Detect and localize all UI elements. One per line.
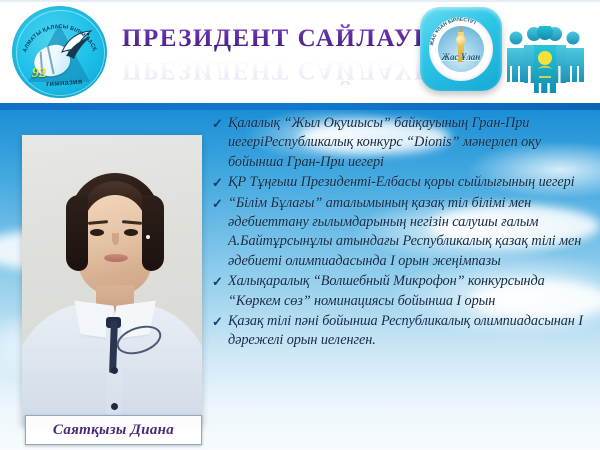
student-nameplate: Саятқызы Диана [25,415,202,445]
photo-eye [90,229,104,236]
achievement-text: “Білім Бұлағы” аталымының қазақ тіл білі… [228,194,594,272]
logo-number: 92 [32,66,46,82]
school-logo: АЛМАТЫ ҚАЛАСЫ БІЛІМ БАСҚАРМАСЫ 92 гимназ… [12,6,107,98]
header-divider [0,103,600,110]
student-name: Саятқызы Диана [53,422,174,439]
page-title: ПРЕЗИДЕНТ САЙЛАУЫ [122,24,422,54]
photo-button [111,403,118,410]
badge-arc-text: ЖАС ҰЛАН БІРЛЕСТІГІ [429,17,493,81]
list-item: ✓ Қалалық “Жыл Оқушысы” байқауының Гран-… [212,114,594,172]
list-item: ✓ Қазақ тілі пәні бойынша Республикалық … [212,312,594,351]
achievements-ul: ✓ Қалалық “Жыл Оқушысы” байқауының Гран-… [212,114,594,351]
photo-earring [146,235,150,239]
photo-eye [124,229,138,236]
header-top-hairline [0,0,600,2]
achievement-text: ҚР Тұңғыш Президенті-Елбасы қоры сыйлығы… [228,173,594,192]
logo-arc-label: АЛМАТЫ ҚАЛАСЫ БІЛІМ БАСҚАРМАСЫ [19,12,98,53]
photo-lips [104,254,128,262]
photo-hair-right [142,195,164,271]
title-block: ПРЕЗИДЕНТ САЙЛАУЫ ПРЕЗИДЕНТ САЙЛАУЫ [122,24,422,94]
svg-text:ЖАС ҰЛАН БІРЛЕСТІГІ: ЖАС ҰЛАН БІРЛЕСТІГІ [429,17,477,47]
jas-ulan-badge: ЖАС ҰЛАН БІРЛЕСТІГІ Жас Ұлан [420,7,502,91]
check-icon: ✓ [212,272,228,291]
check-icon: ✓ [212,114,228,133]
list-item: ✓ “Білім Бұлағы” аталымының қазақ тіл бі… [212,194,594,272]
check-icon: ✓ [212,312,228,331]
student-photo [22,135,202,425]
achievement-text: Халықаралық “Волшебный Микрофон” конкурс… [228,272,594,311]
photo-nose [112,233,119,245]
header-bar: АЛМАТЫ ҚАЛАСЫ БІЛІМ БАСҚАРМАСЫ 92 гимназ… [0,0,600,103]
svg-text:АЛМАТЫ ҚАЛАСЫ БІЛІМ БАСҚАРМАСЫ: АЛМАТЫ ҚАЛАСЫ БІЛІМ БАСҚАРМАСЫ [19,12,98,53]
badge-word: Жас Ұлан [420,52,502,62]
check-icon: ✓ [212,173,228,192]
slide: АЛМАТЫ ҚАЛАСЫ БІЛІМ БАСҚАРМАСЫ 92 гимназ… [0,0,600,450]
check-icon: ✓ [212,194,228,213]
achievement-text: Қазақ тілі пәні бойынша Республикалық ол… [228,312,594,351]
achievements-list: ✓ Қалалық “Жыл Оқушысы” байқауының Гран-… [212,114,594,352]
list-item: ✓ Халықаралық “Волшебный Микрофон” конку… [212,272,594,311]
list-item: ✓ ҚР Тұңғыш Президенті-Елбасы қоры сыйлы… [212,173,594,192]
people-group-icon [505,26,595,98]
photo-hair-left [66,195,88,271]
slide-body: Саятқызы Диана ✓ Қалалық “Жыл Оқушысы” б… [0,110,600,450]
achievement-text: Қалалық “Жыл Оқушысы” байқауының Гран-Пр… [228,114,594,172]
photo-button [111,367,118,374]
page-title-reflection: ПРЕЗИДЕНТ САЙЛАУЫ [122,55,422,85]
badge-arc-label: ЖАС ҰЛАН БІРЛЕСТІГІ [429,17,477,47]
